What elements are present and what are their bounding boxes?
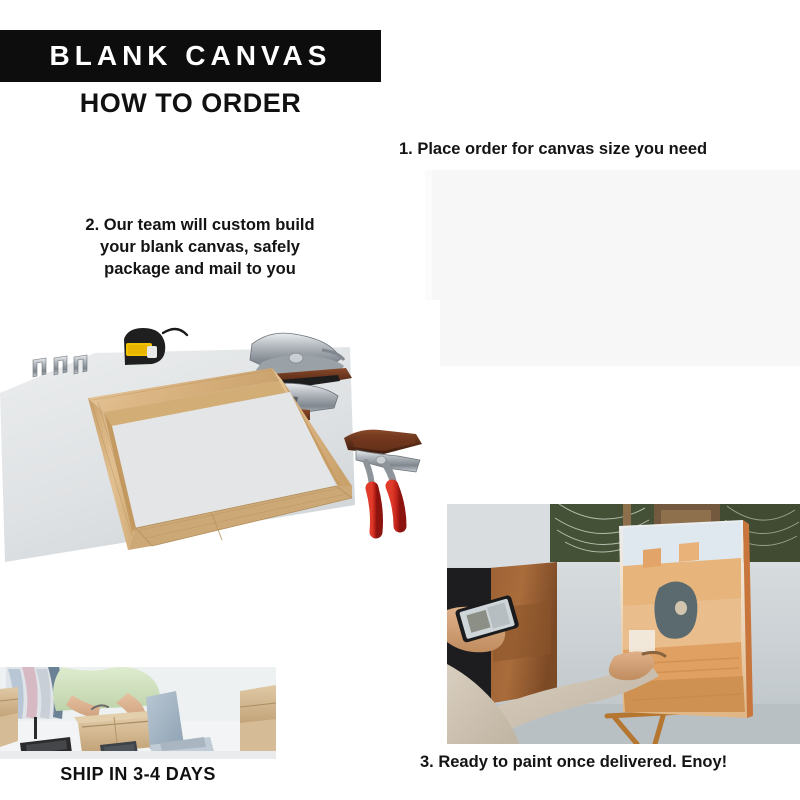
step-2-line-3: package and mail to you: [35, 259, 365, 281]
stacked-boxes-right: [240, 685, 276, 755]
stacked-boxes-left: [0, 687, 18, 747]
step-2-line-2: your blank canvas, safely: [35, 237, 365, 259]
photo-backdrop: [432, 170, 800, 366]
step-2-caption: 2. Our team will custom build your blank…: [35, 215, 365, 280]
packing-shipping-photo: [0, 667, 276, 759]
artist-painting-photo: [447, 504, 800, 744]
stretcher-frame-photo: [0, 300, 440, 620]
page-subtitle: HOW TO ORDER: [0, 88, 381, 119]
step-2-line-1: 2. Our team will custom build: [35, 215, 365, 237]
shipping-illustration: [0, 667, 276, 759]
painting-canvas: [619, 520, 753, 718]
frame-build-illustration: [0, 300, 440, 620]
page-title: BLANK CANVAS: [50, 42, 332, 70]
painting-scene-illustration: [447, 504, 800, 744]
header-banner: BLANK CANVAS: [0, 30, 381, 82]
step-3-caption: 3. Ready to paint once delivered. Enoy!: [420, 752, 790, 774]
blank-canvas-photo: [425, 170, 800, 366]
step-1-caption: 1. Place order for canvas size you need: [399, 139, 795, 161]
shipping-caption: SHIP IN 3-4 DAYS: [0, 764, 276, 785]
